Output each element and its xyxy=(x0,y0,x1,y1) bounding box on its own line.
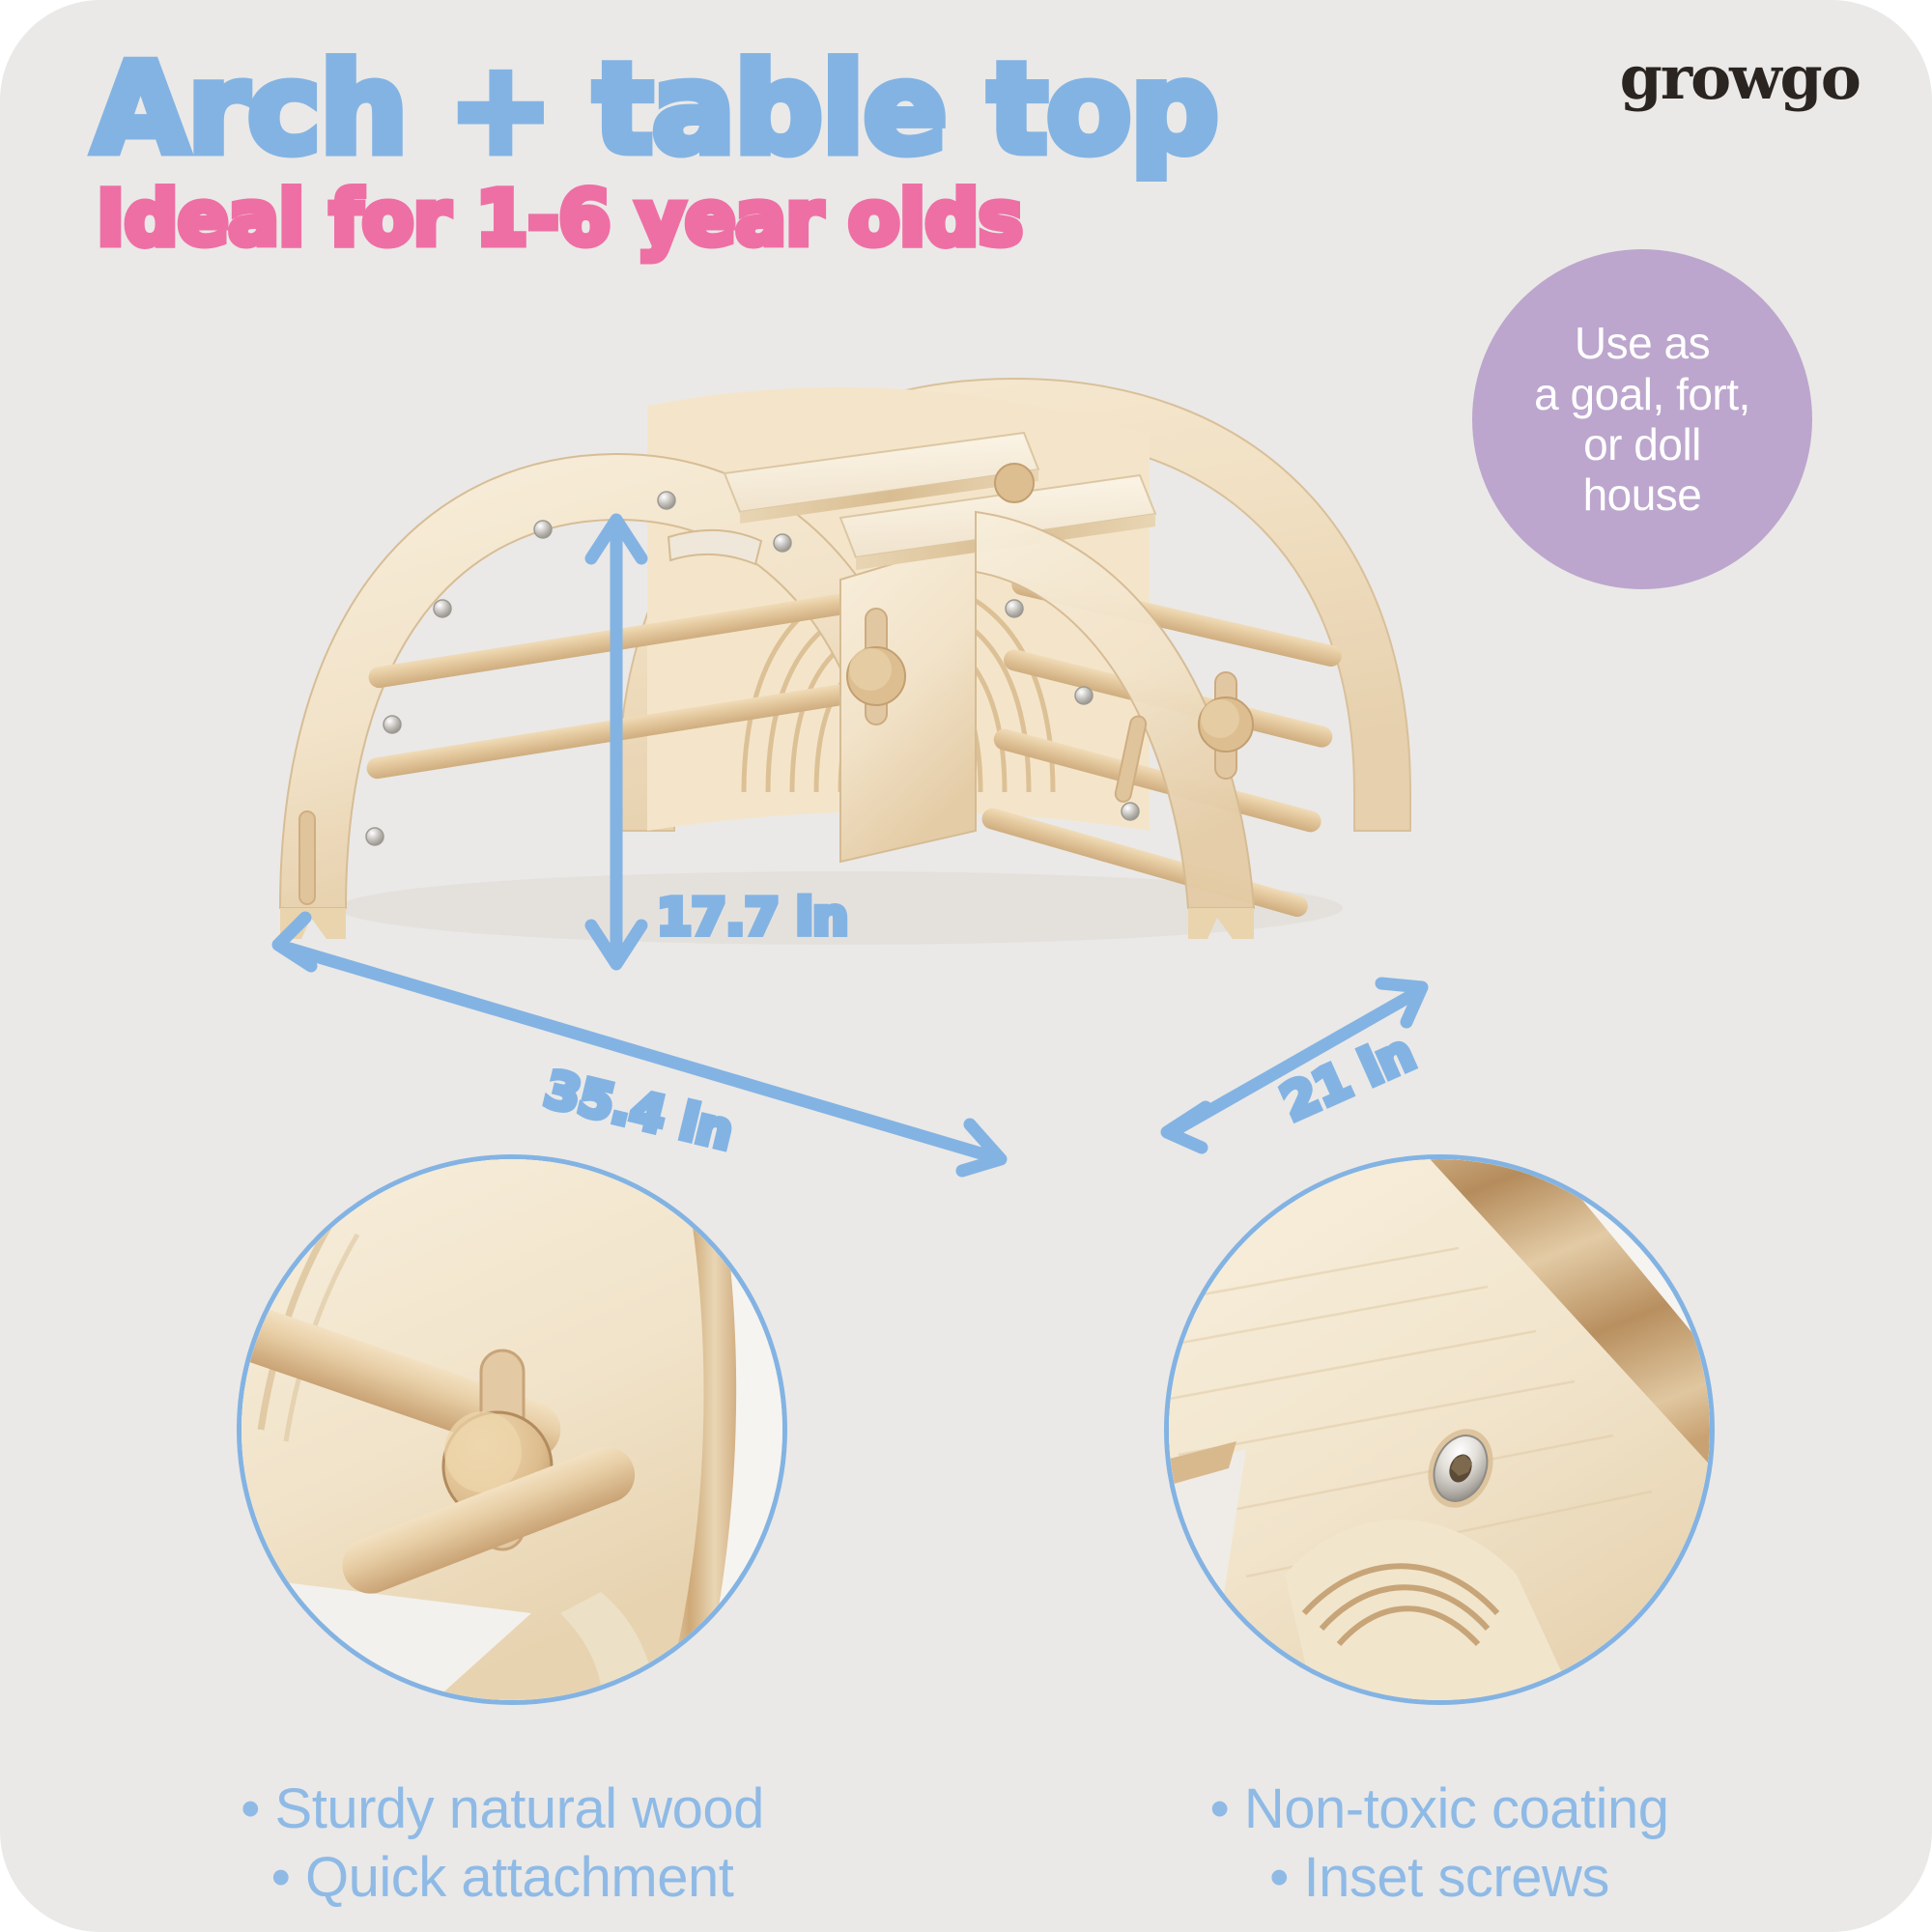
page-title: Arch + table top xyxy=(93,48,1218,172)
use-case-badge-text: Use as a goal, fort, or doll house xyxy=(1534,318,1750,521)
center-upright xyxy=(840,539,976,862)
dimension-label-width: 35.4 in xyxy=(539,1061,738,1162)
product-photo xyxy=(164,290,1517,966)
page-subtitle: Ideal for 1-6 year olds xyxy=(97,182,1023,257)
caption-left: • Sturdy natural wood • Quick attachment xyxy=(135,1776,869,1913)
caption-right: • Non-toxic coating • Inset screws xyxy=(1072,1776,1806,1913)
peg-knob xyxy=(995,464,1034,502)
dimension-label-height: 17.7 in xyxy=(657,889,848,947)
detail-photo-attachment xyxy=(237,1154,787,1705)
detail-photo-screw xyxy=(1164,1154,1715,1705)
depth-arrow-head-low xyxy=(1167,1107,1206,1148)
depth-arrow-head-high xyxy=(1381,983,1422,1022)
dimension-label-depth: 21 in xyxy=(1273,1024,1423,1133)
brand-logo: growgo xyxy=(1619,43,1859,113)
width-arrow-head-right xyxy=(962,1124,1001,1171)
infographic-canvas: Arch + table top Ideal for 1-6 year olds… xyxy=(0,0,1932,1932)
use-case-badge: Use as a goal, fort, or doll house xyxy=(1472,249,1812,589)
